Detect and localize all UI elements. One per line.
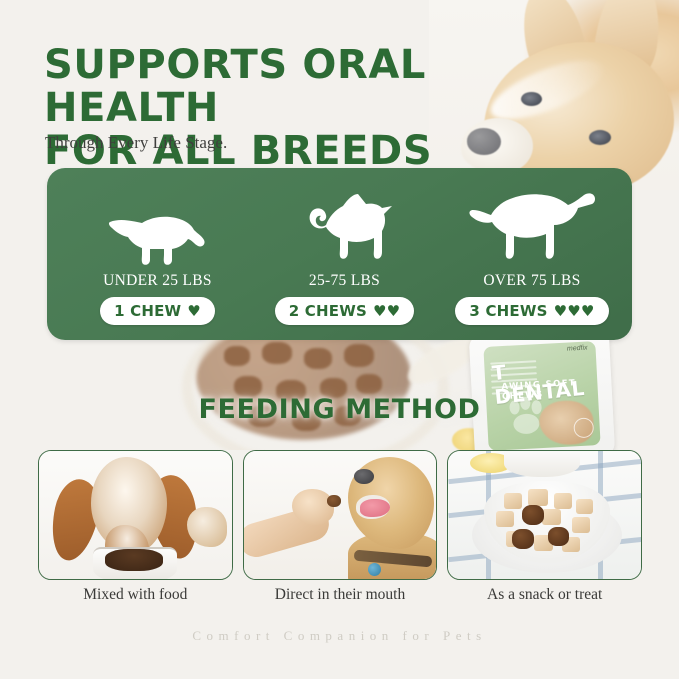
photo-2-dog-nose [354, 469, 374, 484]
large-dog-silhouette-icon [439, 168, 625, 270]
photo-3-treat-cube [504, 493, 522, 509]
photo-2-chew-treat [327, 495, 341, 507]
chew-count-label-medium: 2 CHEWS [289, 302, 367, 320]
dosage-column-small: UNDER 25 LBS 1 CHEW ♥ [65, 168, 250, 340]
dosage-column-medium: 25-75 LBS 2 CHEWS ♥♥ [257, 168, 432, 340]
kibble-piece [262, 342, 292, 364]
chew-badge-medium: 2 CHEWS ♥♥ [275, 297, 415, 325]
heart-icons-small: ♥ [187, 304, 201, 319]
chew-count-label-large: 3 CHEWS [469, 302, 547, 320]
weight-label-small: UNDER 25 LBS [65, 272, 250, 290]
kibble-piece [304, 348, 332, 369]
kibble-piece [356, 374, 382, 394]
feeding-method-photo-1 [38, 450, 233, 580]
photo-2-collar-tag [368, 563, 381, 576]
page-subtitle: Through Every Life Stage. [45, 133, 227, 153]
feeding-method-photo-2 [243, 450, 438, 580]
photo-3-dark-chew [522, 505, 544, 525]
headline-line-1: SUPPORTS ORAL HEALTH [44, 42, 426, 131]
photo-3-treat-cube [576, 499, 593, 514]
photo-3-treat-cube [542, 509, 561, 525]
dosage-panel: UNDER 25 LBS 1 CHEW ♥ 25-75 LBS 2 CHEWS … [47, 168, 632, 340]
feeding-method-thumbnails [38, 450, 642, 578]
caption-3: As a snack or treat [447, 586, 642, 604]
feeding-method-captions: Mixed with food Direct in their mouth As… [38, 586, 642, 604]
chew-badge-large: 3 CHEWS ♥♥♥ [455, 297, 608, 325]
chew-count-label-small: 1 CHEW [114, 302, 181, 320]
heart-icons-large: ♥♥♥ [554, 304, 595, 319]
puppy-silhouette-icon [65, 168, 250, 270]
medium-dog-silhouette-icon [257, 168, 432, 270]
feeding-method-title: FEEDING METHOD [0, 394, 679, 425]
kibble-piece [344, 344, 374, 367]
page-title: SUPPORTS ORAL HEALTH FOR ALL BREEDS [44, 44, 514, 174]
heart-icons-medium: ♥♥ [373, 304, 400, 319]
dosage-column-large: OVER 75 LBS 3 CHEWS ♥♥♥ [439, 168, 625, 340]
infographic-canvas: SUPPORTS ORAL HEALTH FOR ALL BREEDS Thro… [0, 0, 679, 679]
photo-3-dark-chew [548, 527, 569, 546]
photo-3-treat-cube [554, 493, 572, 509]
feeding-method-photo-3 [447, 450, 642, 580]
footer-tagline: Comfort Companion for Pets [0, 628, 679, 644]
caption-1: Mixed with food [38, 586, 233, 604]
photo-3-treat-cube [528, 489, 548, 506]
photo-1-bowl-contents [105, 549, 163, 571]
photo-2-human-hand [292, 489, 334, 525]
weight-label-medium: 25-75 LBS [257, 272, 432, 290]
dog-eye-right [589, 130, 611, 145]
dog-eye-left [521, 92, 542, 106]
kibble-piece [224, 346, 250, 366]
caption-2: Direct in their mouth [243, 586, 438, 604]
photo-3-treat-cube [496, 511, 514, 527]
photo-3-treat-cube [572, 517, 590, 533]
weight-label-large: OVER 75 LBS [439, 272, 625, 290]
chew-badge-small: 1 CHEW ♥ [100, 297, 215, 325]
photo-3-cup [504, 450, 580, 477]
photo-3-dark-chew [512, 529, 534, 549]
